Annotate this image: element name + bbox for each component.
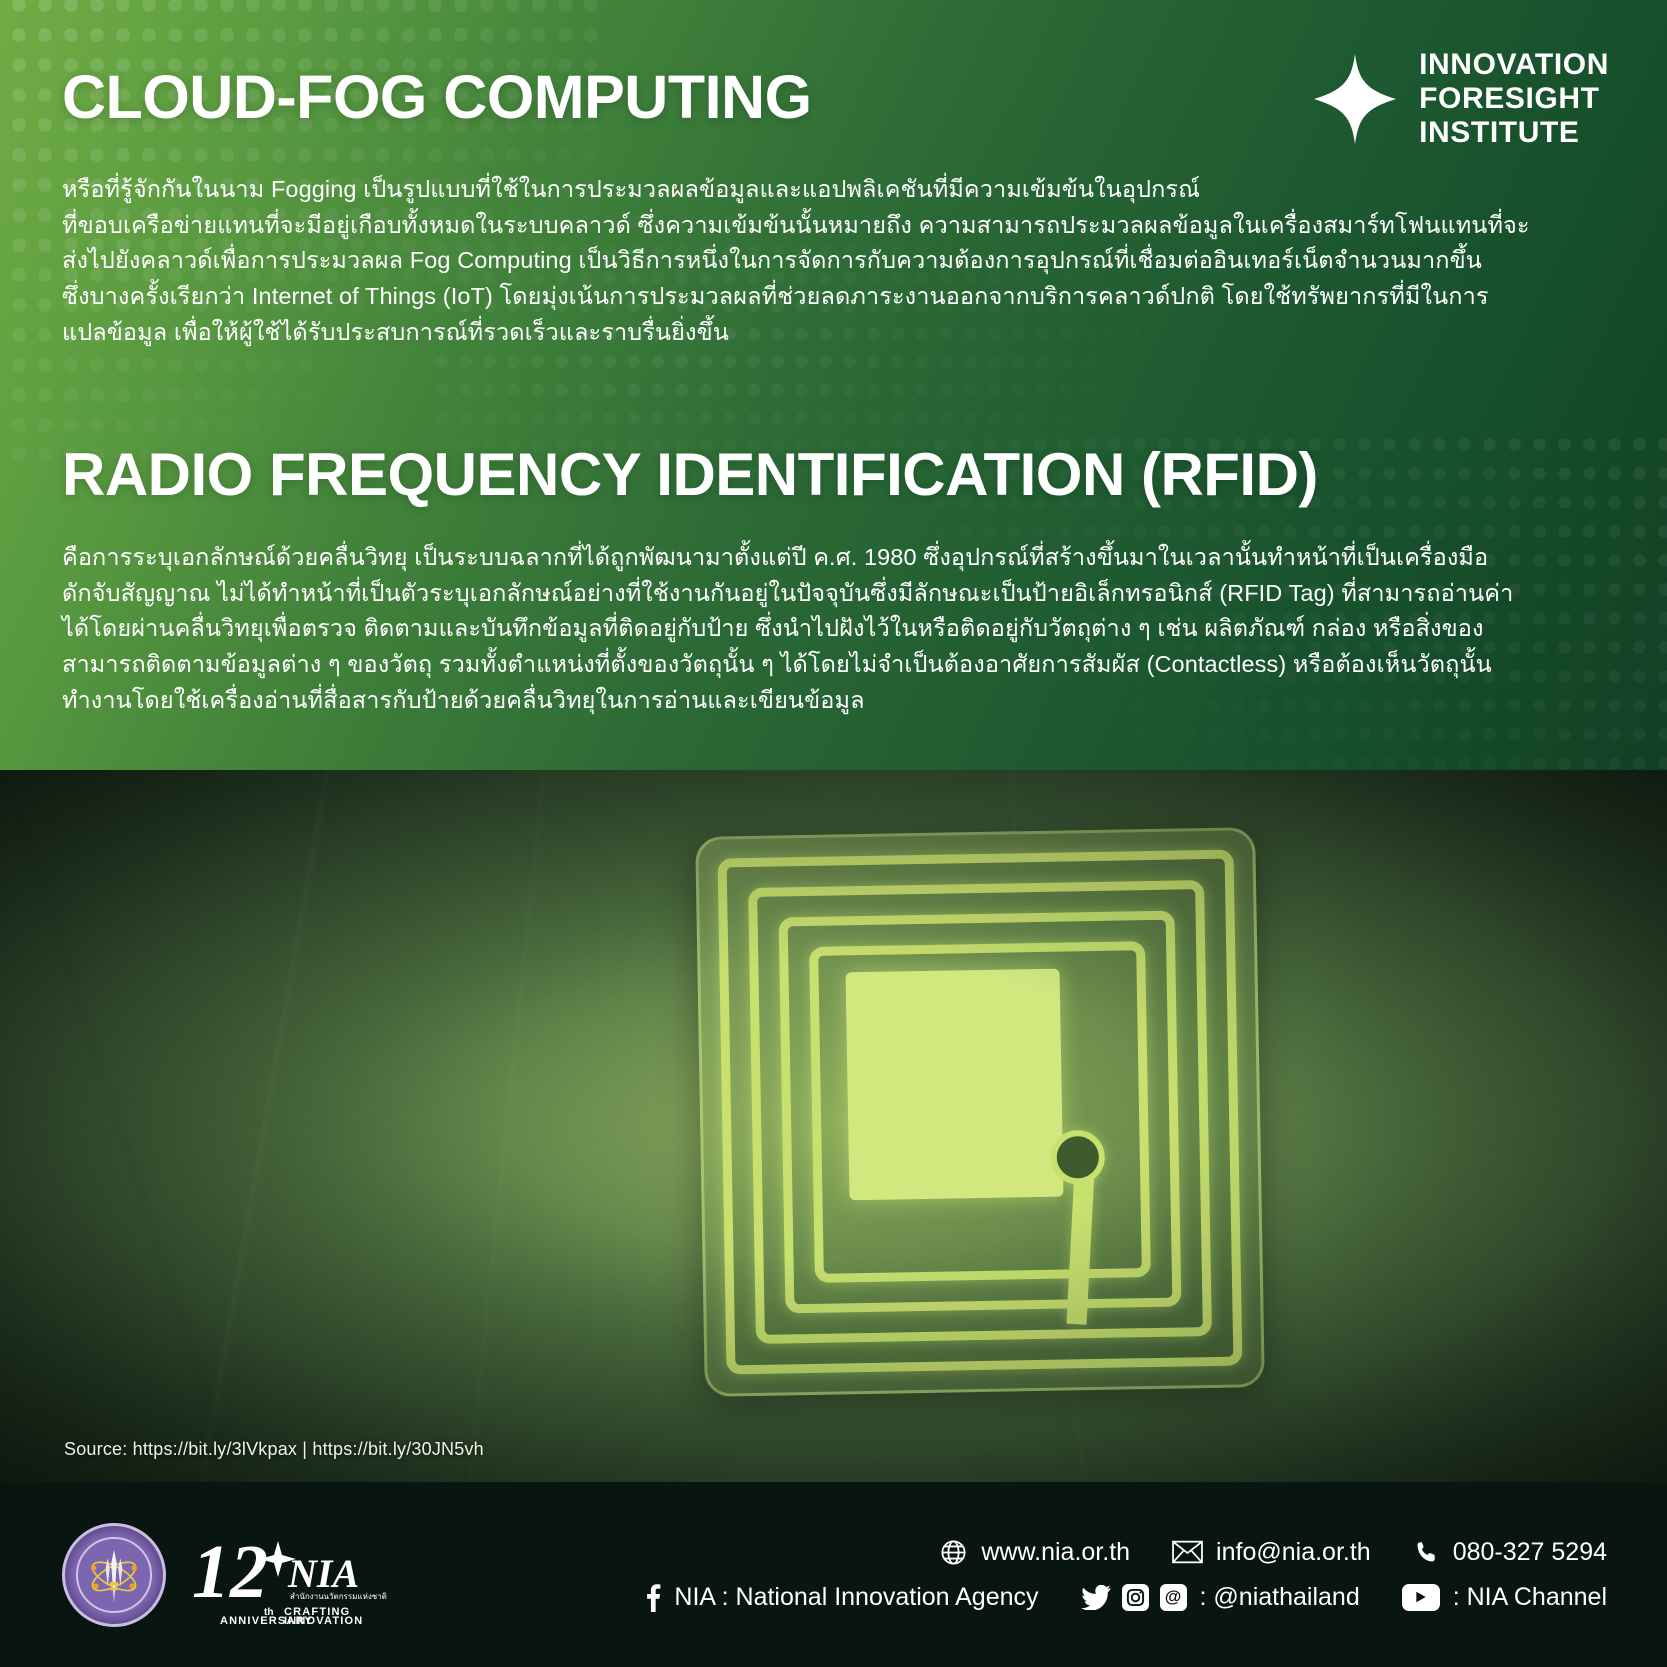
- paragraph-line: ดักจับสัญญาณ ไม่ได้ทำหน้าที่เป็นตัวระบุเ…: [62, 576, 1619, 612]
- paragraph-line: หรือที่รู้จักกันในนาม Fogging เป็นรูปแบบ…: [62, 172, 1619, 208]
- brand-line-2: FORESIGHT: [1419, 82, 1609, 116]
- globe-icon: [939, 1538, 968, 1567]
- paragraph-line: สามารถติดตามข้อมูลต่าง ๆ ของวัตถุ รวมทั้…: [62, 647, 1619, 683]
- contact-social-handles[interactable]: @ : @niathailand: [1081, 1583, 1360, 1612]
- contact-youtube[interactable]: : NIA Channel: [1402, 1583, 1607, 1612]
- contact-email[interactable]: info@nia.or.th: [1172, 1538, 1371, 1567]
- paragraph-rfid: คือการระบุเอกลักษณ์ด้วยคลื่นวิทยุ เป็นระ…: [62, 540, 1619, 719]
- twitter-icon[interactable]: [1081, 1585, 1111, 1610]
- facebook-label: NIA : National Innovation Agency: [674, 1583, 1038, 1612]
- brand-wordmark: INNOVATION FORESIGHT INSTITUTE: [1419, 48, 1609, 151]
- heading-cloud-fog-computing: CLOUD-FOG COMPUTING: [62, 62, 812, 132]
- four-point-star-icon: [1311, 52, 1399, 146]
- paragraph-line: ทำงานโดยใช้เครื่องอ่านที่สื่อสารกับป้ายด…: [62, 683, 1619, 719]
- brand-line-1: INNOVATION: [1419, 48, 1609, 82]
- nia-wordmark-thai: สำนักงานนวัตกรรมแห่งชาติ: [290, 1592, 387, 1601]
- top-content-panel: INNOVATION FORESIGHT INSTITUTE CLOUD-FOG…: [0, 0, 1667, 770]
- infographic-poster: INNOVATION FORESIGHT INSTITUTE CLOUD-FOG…: [0, 0, 1667, 1667]
- social-handle-label: : @niathailand: [1200, 1583, 1360, 1612]
- phone-icon: [1413, 1539, 1440, 1566]
- photo-vignette: [0, 770, 1667, 1482]
- threads-icon[interactable]: @: [1160, 1584, 1187, 1611]
- footer-bar: 12 NIA สำนักงานนวัตกรรมแห่งชาติ th CRAFT…: [0, 1482, 1667, 1667]
- nia-wordmark: NIA: [287, 1551, 359, 1596]
- source-caption: Source: https://bit.ly/3lVkpax | https:/…: [64, 1439, 484, 1460]
- social-icon-group: @: [1081, 1584, 1187, 1611]
- email-label: info@nia.or.th: [1216, 1538, 1371, 1567]
- paragraph-line: ได้โดยผ่านคลื่นวิทยุเพื่อตรวจ ติดตามและบ…: [62, 611, 1619, 647]
- footer-contact-block: www.nia.or.th info@nia.or.th: [560, 1538, 1667, 1612]
- youtube-icon[interactable]: [1402, 1584, 1440, 1611]
- paragraph-line: ส่งไปยังคลาวด์เพื่อการประมวลผล Fog Compu…: [62, 243, 1619, 279]
- ministry-seal-logo: [62, 1523, 166, 1627]
- heading-radio-frequency-identification: RADIO FREQUENCY IDENTIFICATION (RFID): [62, 440, 1318, 509]
- paragraph-line: แปลข้อมูล เพื่อให้ผู้ใช้ได้รับประสบการณ์…: [62, 315, 1619, 351]
- brand-line-3: INSTITUTE: [1419, 116, 1609, 150]
- anniversary-number-12: 12: [192, 1530, 268, 1614]
- footer-logo-group: 12 NIA สำนักงานนวัตกรรมแห่งชาติ th CRAFT…: [0, 1523, 560, 1627]
- nia-12th-anniversary-logo: 12 NIA สำนักงานนวัตกรรมแห่งชาติ th CRAFT…: [192, 1525, 402, 1625]
- rfid-photo: Source: https://bit.ly/3lVkpax | https:/…: [0, 770, 1667, 1482]
- facebook-icon: [644, 1583, 661, 1612]
- contact-facebook[interactable]: NIA : National Innovation Agency: [644, 1583, 1038, 1612]
- envelope-icon: [1172, 1540, 1203, 1564]
- contact-row-social: NIA : National Innovation Agency: [560, 1583, 1607, 1612]
- instagram-icon[interactable]: [1122, 1584, 1149, 1611]
- paragraph-cloud-fog-computing: หรือที่รู้จักกันในนาม Fogging เป็นรูปแบบ…: [62, 172, 1619, 351]
- website-label: www.nia.or.th: [981, 1538, 1130, 1567]
- phone-label: 080-327 5294: [1453, 1538, 1607, 1567]
- contact-phone[interactable]: 080-327 5294: [1413, 1538, 1607, 1567]
- contact-website[interactable]: www.nia.or.th: [939, 1538, 1130, 1567]
- paragraph-line: ซึ่งบางครั้งเรียกว่า Internet of Things …: [62, 279, 1619, 315]
- paragraph-line: คือการระบุเอกลักษณ์ด้วยคลื่นวิทยุ เป็นระ…: [62, 540, 1619, 576]
- paragraph-line: ที่ขอบเครือข่ายแทนที่จะมีอยู่เกือบทั้งหม…: [62, 208, 1619, 244]
- atom-trident-icon: [79, 1540, 149, 1610]
- contact-row-primary: www.nia.or.th info@nia.or.th: [560, 1538, 1607, 1567]
- innovation-label: INNOVATION: [284, 1615, 363, 1625]
- youtube-label: : NIA Channel: [1453, 1583, 1607, 1612]
- innovation-foresight-institute-logo: INNOVATION FORESIGHT INSTITUTE: [1311, 48, 1609, 151]
